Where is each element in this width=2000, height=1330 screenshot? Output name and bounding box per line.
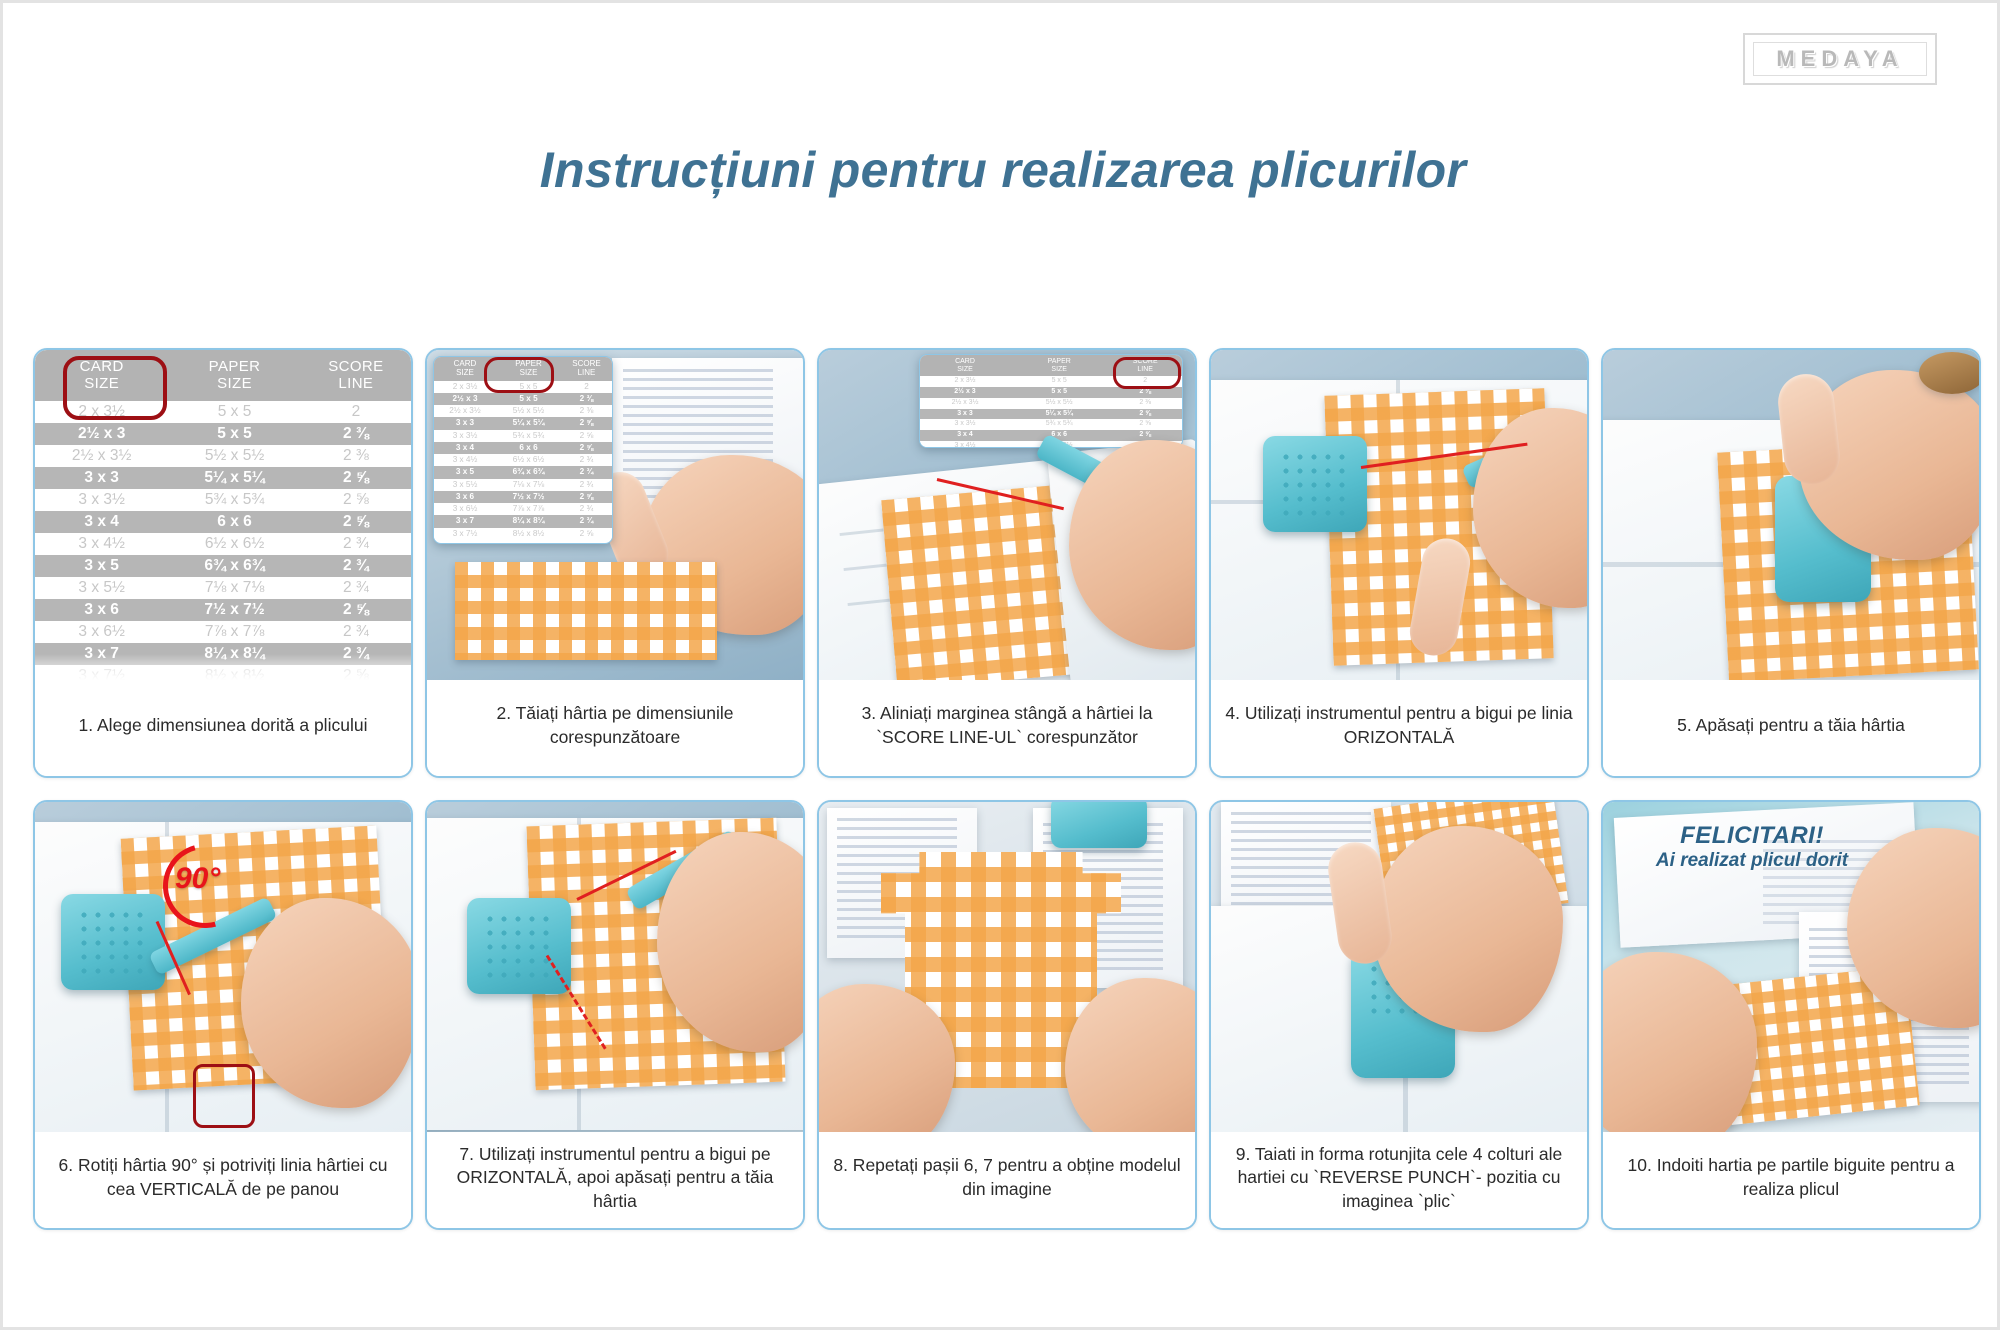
step-photo-8: [819, 802, 1195, 1132]
table-row: 2 x 3½5 x 52: [434, 381, 612, 393]
cell-paper: 8½ x 8½: [494, 529, 563, 539]
step-photo-7: [427, 802, 803, 1132]
cell-card: 3 x 5½: [41, 579, 162, 597]
cell-score: 2 ⅝: [563, 529, 610, 539]
cell-score: 2 ⅝: [307, 513, 405, 531]
cell-card: 3 x 4: [41, 513, 162, 531]
table-row: 3 x 35¼ x 5¼2 ⅝: [35, 467, 411, 489]
cell-card: 3 x 6½: [41, 623, 162, 641]
cell-score: 2 ⅜: [307, 447, 405, 465]
step-card-7: 7. Utilizați instrumentul pentru a bigui…: [425, 800, 805, 1230]
step-card-3: CARD SIZE PAPER SIZE SCORE LINE: [817, 348, 1197, 778]
cell-paper: 5 x 5: [162, 425, 306, 443]
table-row: 2½ x 35 x 52 ⅜: [920, 387, 1182, 398]
step-photo-10: FELICITARI! Ai realizat plicul dorit: [1603, 802, 1979, 1132]
cell-card: 3 x 4½: [922, 442, 1008, 448]
cell-card: 2½ x 3: [436, 394, 494, 404]
cell-score: 2 ¾: [563, 516, 610, 526]
cell-paper: 5½ x 5½: [1008, 399, 1110, 408]
cell-score: 2 ⅝: [1110, 410, 1180, 419]
cell-paper: 5¼ x 5¼: [1008, 410, 1110, 419]
scene-6: 90°: [35, 802, 411, 1132]
cell-paper: 5¼ x 5¼: [162, 469, 306, 487]
scene-5: [1603, 350, 1979, 680]
overlay-col-card-2: CARD SIZE: [436, 360, 494, 378]
table-row: 3 x 46 x 62 ⅝: [35, 511, 411, 533]
congrats-title: FELICITARI!: [1627, 822, 1877, 850]
table-row: 3 x 35¼ x 5¼2 ⅝: [920, 409, 1182, 420]
cell-paper: 7⅞ x 7⅞: [494, 504, 563, 514]
cell-card: 3 x 3½: [922, 420, 1008, 429]
table-row: 2 x 3½5 x 52: [35, 401, 411, 423]
scene-4: [1211, 350, 1587, 680]
tool-grip-dots: [77, 908, 149, 974]
table-row: 3 x 78¼ x 8¼2 ¾: [434, 515, 612, 527]
cell-card: 3 x 5: [436, 467, 494, 477]
cell-score: 2 ¾: [563, 480, 610, 490]
scene-10: FELICITARI! Ai realizat plicul dorit: [1603, 802, 1979, 1132]
overlay-col-paper-3: PAPER SIZE: [1008, 358, 1110, 373]
cell-score: 2 ¾: [307, 623, 405, 641]
cell-card: 3 x 6½: [436, 504, 494, 514]
cell-paper: 6½ x 6½: [494, 455, 563, 465]
cut-paper-strip: [455, 562, 717, 660]
scoring-tool: [1051, 802, 1147, 848]
brand-logo: MEDAYA: [1743, 33, 1937, 85]
step-card-4: 4. Utilizați instrumentul pentru a bigui…: [1209, 348, 1589, 778]
logo-inner-frame: MEDAYA: [1753, 42, 1927, 76]
cell-score: 2 ¾: [307, 535, 405, 553]
cell-card: 3 x 6: [41, 601, 162, 619]
cell-paper: 5 x 5: [494, 394, 563, 404]
overlay-col-paper-2: PAPER SIZE: [494, 360, 563, 378]
table-row: 3 x 67½ x 7½2 ⅝: [434, 491, 612, 503]
cell-paper: 6½ x 6½: [162, 535, 306, 553]
angle-label: 90°: [175, 862, 220, 896]
step-caption-5: 5. Apăsați pentru a tăia hârtia: [1603, 680, 1979, 776]
cell-paper: 5¾ x 5¾: [162, 491, 306, 509]
table-row: 3 x 56¾ x 6¾2 ¾: [35, 555, 411, 577]
cell-score: 2 ⅜: [563, 394, 610, 404]
cell-card: 3 x 4½: [41, 535, 162, 553]
step-caption-6: 6. Rotiți hârtia 90° și potriviți linia …: [35, 1132, 411, 1228]
congrats-subtitle: Ai realizat plicul dorit: [1627, 850, 1877, 872]
col-paper-size: PAPER SIZE: [162, 358, 306, 393]
cell-score: 2: [563, 382, 610, 392]
cell-card: 3 x 7½: [436, 529, 494, 539]
table-row: 2 x 3½5 x 52: [920, 376, 1182, 387]
cell-score: 2 ⅝: [1110, 431, 1180, 440]
cell-score: 2 ⅜: [1110, 388, 1180, 397]
cell-score: 2 ⅜: [1110, 399, 1180, 408]
cell-card: 2½ x 3½: [41, 447, 162, 465]
table-row: 3 x 46 x 62 ⅝: [434, 442, 612, 454]
table-fade: [35, 654, 411, 680]
step-photo-3: CARD SIZE PAPER SIZE SCORE LINE: [819, 350, 1195, 680]
cell-score: 2 ⅝: [307, 491, 405, 509]
scene-9: [1211, 802, 1587, 1132]
cell-paper: 7⅞ x 7⅞: [162, 623, 306, 641]
cell-paper: 5¾ x 5¾: [1008, 420, 1110, 429]
cell-score: 2 ⅝: [563, 492, 610, 502]
cell-card: 3 x 5: [41, 557, 162, 575]
cell-paper: 5 x 5: [1008, 377, 1110, 386]
cell-paper: 6 x 6: [1008, 431, 1110, 440]
cell-card: 3 x 5½: [436, 480, 494, 490]
table-row: 3 x 7½8½ x 8½2 ⅝: [434, 528, 612, 540]
cell-score: 2 ¾: [563, 504, 610, 514]
table-row: 3 x 3½5¾ x 5¾2 ⅝: [920, 419, 1182, 430]
step-caption-2: 2. Tăiați hârtia pe dimensiunile corespu…: [427, 680, 803, 776]
step-card-9: 9. Taiati in forma rotunjita cele 4 colt…: [1209, 800, 1589, 1230]
step-photo-9: [1211, 802, 1587, 1132]
tool-grip-dots: [483, 912, 555, 978]
scene-2: CARD SIZE PAPER SIZE SCORE LINE: [427, 350, 803, 680]
cell-score: 2 ¾: [307, 557, 405, 575]
cell-paper: 7⅛ x 7⅛: [162, 579, 306, 597]
cell-paper: 5 x 5: [162, 403, 306, 421]
cell-card: 3 x 6: [436, 492, 494, 502]
col-card-size: CARD SIZE: [41, 358, 162, 393]
cell-paper: 8¼ x 8¼: [494, 516, 563, 526]
table-row: 3 x 3½5¾ x 5¾2 ⅝: [35, 489, 411, 511]
cell-paper: 6¾ x 6¾: [162, 557, 306, 575]
cell-paper: 6¾ x 6¾: [494, 467, 563, 477]
step-caption-8: 8. Repetați pașii 6, 7 pentru a obține m…: [819, 1132, 1195, 1228]
cell-card: 3 x 4½: [436, 455, 494, 465]
cell-score: 2 ⅜: [563, 406, 610, 416]
table-row: 3 x 56¾ x 6¾2 ¾: [434, 466, 612, 478]
step-card-6: 90° 6. Rotiți hârtia 90° și potriviți li…: [33, 800, 413, 1230]
cell-card: 3 x 3½: [41, 491, 162, 509]
step-card-2: CARD SIZE PAPER SIZE SCORE LINE: [425, 348, 805, 778]
cell-score: 2 ⅝: [563, 418, 610, 428]
table-row: 2½ x 3½5½ x 5½2 ⅜: [920, 398, 1182, 409]
step-card-5: 5. Apăsați pentru a tăia hârtia: [1601, 348, 1981, 778]
tool-grip-dots: [1279, 450, 1351, 516]
cell-score: 2: [307, 403, 405, 421]
cell-score: 2 ¾: [307, 579, 405, 597]
table-row: 3 x 67½ x 7½2 ⅝: [35, 599, 411, 621]
step-caption-4: 4. Utilizați instrumentul pentru a bigui…: [1211, 680, 1587, 776]
step-caption-7: 7. Utilizați instrumentul pentru a bigui…: [427, 1132, 803, 1228]
cell-card: 2 x 3½: [41, 403, 162, 421]
cell-card: 2½ x 3½: [436, 406, 494, 416]
cell-score: 2 ⅜: [307, 425, 405, 443]
steps-grid: CARD SIZE PAPER SIZE SCORE LINE 2 x 3½5 …: [33, 348, 1973, 1230]
step-card-8: 8. Repetați pașii 6, 7 pentru a obține m…: [817, 800, 1197, 1230]
cell-paper: 6 x 6: [162, 513, 306, 531]
cell-paper: 7⅛ x 7⅛: [494, 480, 563, 490]
table-row: 2½ x 35 x 52 ⅜: [35, 423, 411, 445]
col-score-line: SCORE LINE: [307, 358, 405, 393]
table-row: 2½ x 35 x 52 ⅜: [434, 393, 612, 405]
cell-paper: 7½ x 7½: [162, 601, 306, 619]
table-row: 2½ x 3½5½ x 5½2 ⅜: [434, 405, 612, 417]
step-caption-9: 9. Taiati in forma rotunjita cele 4 colt…: [1211, 1132, 1587, 1228]
cell-paper: 5¾ x 5¾: [494, 431, 563, 441]
congratulations-message: FELICITARI! Ai realizat plicul dorit: [1627, 822, 1877, 872]
step-photo-4: [1211, 350, 1587, 680]
cell-score: 2 ¾: [563, 467, 610, 477]
step-photo-6: 90°: [35, 802, 411, 1132]
scene-3: CARD SIZE PAPER SIZE SCORE LINE: [819, 350, 1195, 680]
scene-8: [819, 802, 1195, 1132]
cell-card: 3 x 3: [41, 469, 162, 487]
cell-paper: 5½ x 5½: [494, 406, 563, 416]
table-row: 3 x 6½7⅞ x 7⅞2 ¾: [434, 503, 612, 515]
cell-score: 2 ⅝: [307, 601, 405, 619]
table-row: 2½ x 3½5½ x 5½2 ⅜: [35, 445, 411, 467]
step-caption-3: 3. Aliniați marginea stângă a hârtiei la…: [819, 680, 1195, 776]
table-row: 3 x 4½6½ x 6½2 ¾: [434, 454, 612, 466]
overlay-col-score-2: SCORE LINE: [563, 360, 610, 378]
overlay-col-score-3: SCORE LINE: [1110, 358, 1180, 373]
cell-card: 2 x 3½: [922, 377, 1008, 386]
cell-score: 2: [1110, 377, 1180, 386]
cell-score: 2 ⅝: [307, 469, 405, 487]
cell-paper: 5 x 5: [494, 382, 563, 392]
cell-card: 3 x 3: [922, 410, 1008, 419]
cell-score: 2 ⅝: [1110, 420, 1180, 429]
overlay-col-card-3: CARD SIZE: [922, 358, 1008, 373]
step-photo-1: CARD SIZE PAPER SIZE SCORE LINE 2 x 3½5 …: [35, 350, 411, 680]
step-caption-10: 10. Indoiti hartia pe partile biguite pe…: [1603, 1132, 1979, 1228]
cell-paper: 5 x 5: [1008, 388, 1110, 397]
cell-card: 2½ x 3: [922, 388, 1008, 397]
cell-card: 3 x 3½: [436, 431, 494, 441]
cell-card: 2½ x 3: [41, 425, 162, 443]
table-row: 3 x 35¼ x 5¼2 ⅝: [434, 417, 612, 429]
page-title: Instrucțiuni pentru realizarea plicurilo…: [3, 141, 2000, 199]
logo-text: MEDAYA: [1776, 46, 1903, 72]
wood-object: [1919, 352, 1979, 394]
cell-paper: 6 x 6: [494, 443, 563, 453]
table-row: 3 x 5½7⅛ x 7⅛2 ¾: [434, 479, 612, 491]
cell-score: 2 ⅝: [563, 431, 610, 441]
overlay-body-2: 2 x 3½5 x 522½ x 35 x 52 ⅜2½ x 3½5½ x 5½…: [434, 381, 612, 540]
table-row: 3 x 5½7⅛ x 7⅛2 ¾: [35, 577, 411, 599]
step-caption-1: 1. Alege dimensiunea dorită a plicului: [35, 680, 411, 776]
cell-score: 2 ¾: [563, 455, 610, 465]
size-table-overlay-2: CARD SIZE PAPER SIZE SCORE LINE: [433, 356, 613, 544]
table-row: 3 x 6½7⅞ x 7⅞2 ¾: [35, 621, 411, 643]
cell-score: 2 ⅝: [563, 443, 610, 453]
cell-card: 3 x 4: [436, 443, 494, 453]
table-row: 3 x 4½6½ x 6½2 ¾: [35, 533, 411, 555]
size-table-header: CARD SIZE PAPER SIZE SCORE LINE: [35, 350, 411, 401]
size-table-body: 2 x 3½5 x 522½ x 35 x 52 ⅜2½ x 3½5½ x 5½…: [35, 401, 411, 681]
cell-card: 3 x 3: [436, 418, 494, 428]
cell-paper: 5¼ x 5¼: [494, 418, 563, 428]
step-card-10: FELICITARI! Ai realizat plicul dorit 10.…: [1601, 800, 1981, 1230]
step-card-1: CARD SIZE PAPER SIZE SCORE LINE 2 x 3½5 …: [33, 348, 413, 778]
cell-card: 2 x 3½: [436, 382, 494, 392]
size-table-overlay-3: CARD SIZE PAPER SIZE SCORE LINE: [919, 354, 1183, 448]
step-photo-2: CARD SIZE PAPER SIZE SCORE LINE: [427, 350, 803, 680]
overlay-header-2: CARD SIZE PAPER SIZE SCORE LINE: [434, 357, 612, 381]
cell-card: 2½ x 3½: [922, 399, 1008, 408]
cell-card: 3 x 7: [436, 516, 494, 526]
instruction-sheet-page: MEDAYA Instrucțiuni pentru realizarea pl…: [0, 0, 2000, 1330]
cell-card: 3 x 4: [922, 431, 1008, 440]
scene-7: [427, 802, 803, 1132]
cell-paper: 5½ x 5½: [162, 447, 306, 465]
cell-paper: 7½ x 7½: [494, 492, 563, 502]
size-table: CARD SIZE PAPER SIZE SCORE LINE 2 x 3½5 …: [35, 350, 411, 680]
step-photo-5: [1603, 350, 1979, 680]
table-row: 3 x 3½5¾ x 5¾2 ⅝: [434, 430, 612, 442]
overlay-header-3: CARD SIZE PAPER SIZE SCORE LINE: [920, 355, 1182, 376]
